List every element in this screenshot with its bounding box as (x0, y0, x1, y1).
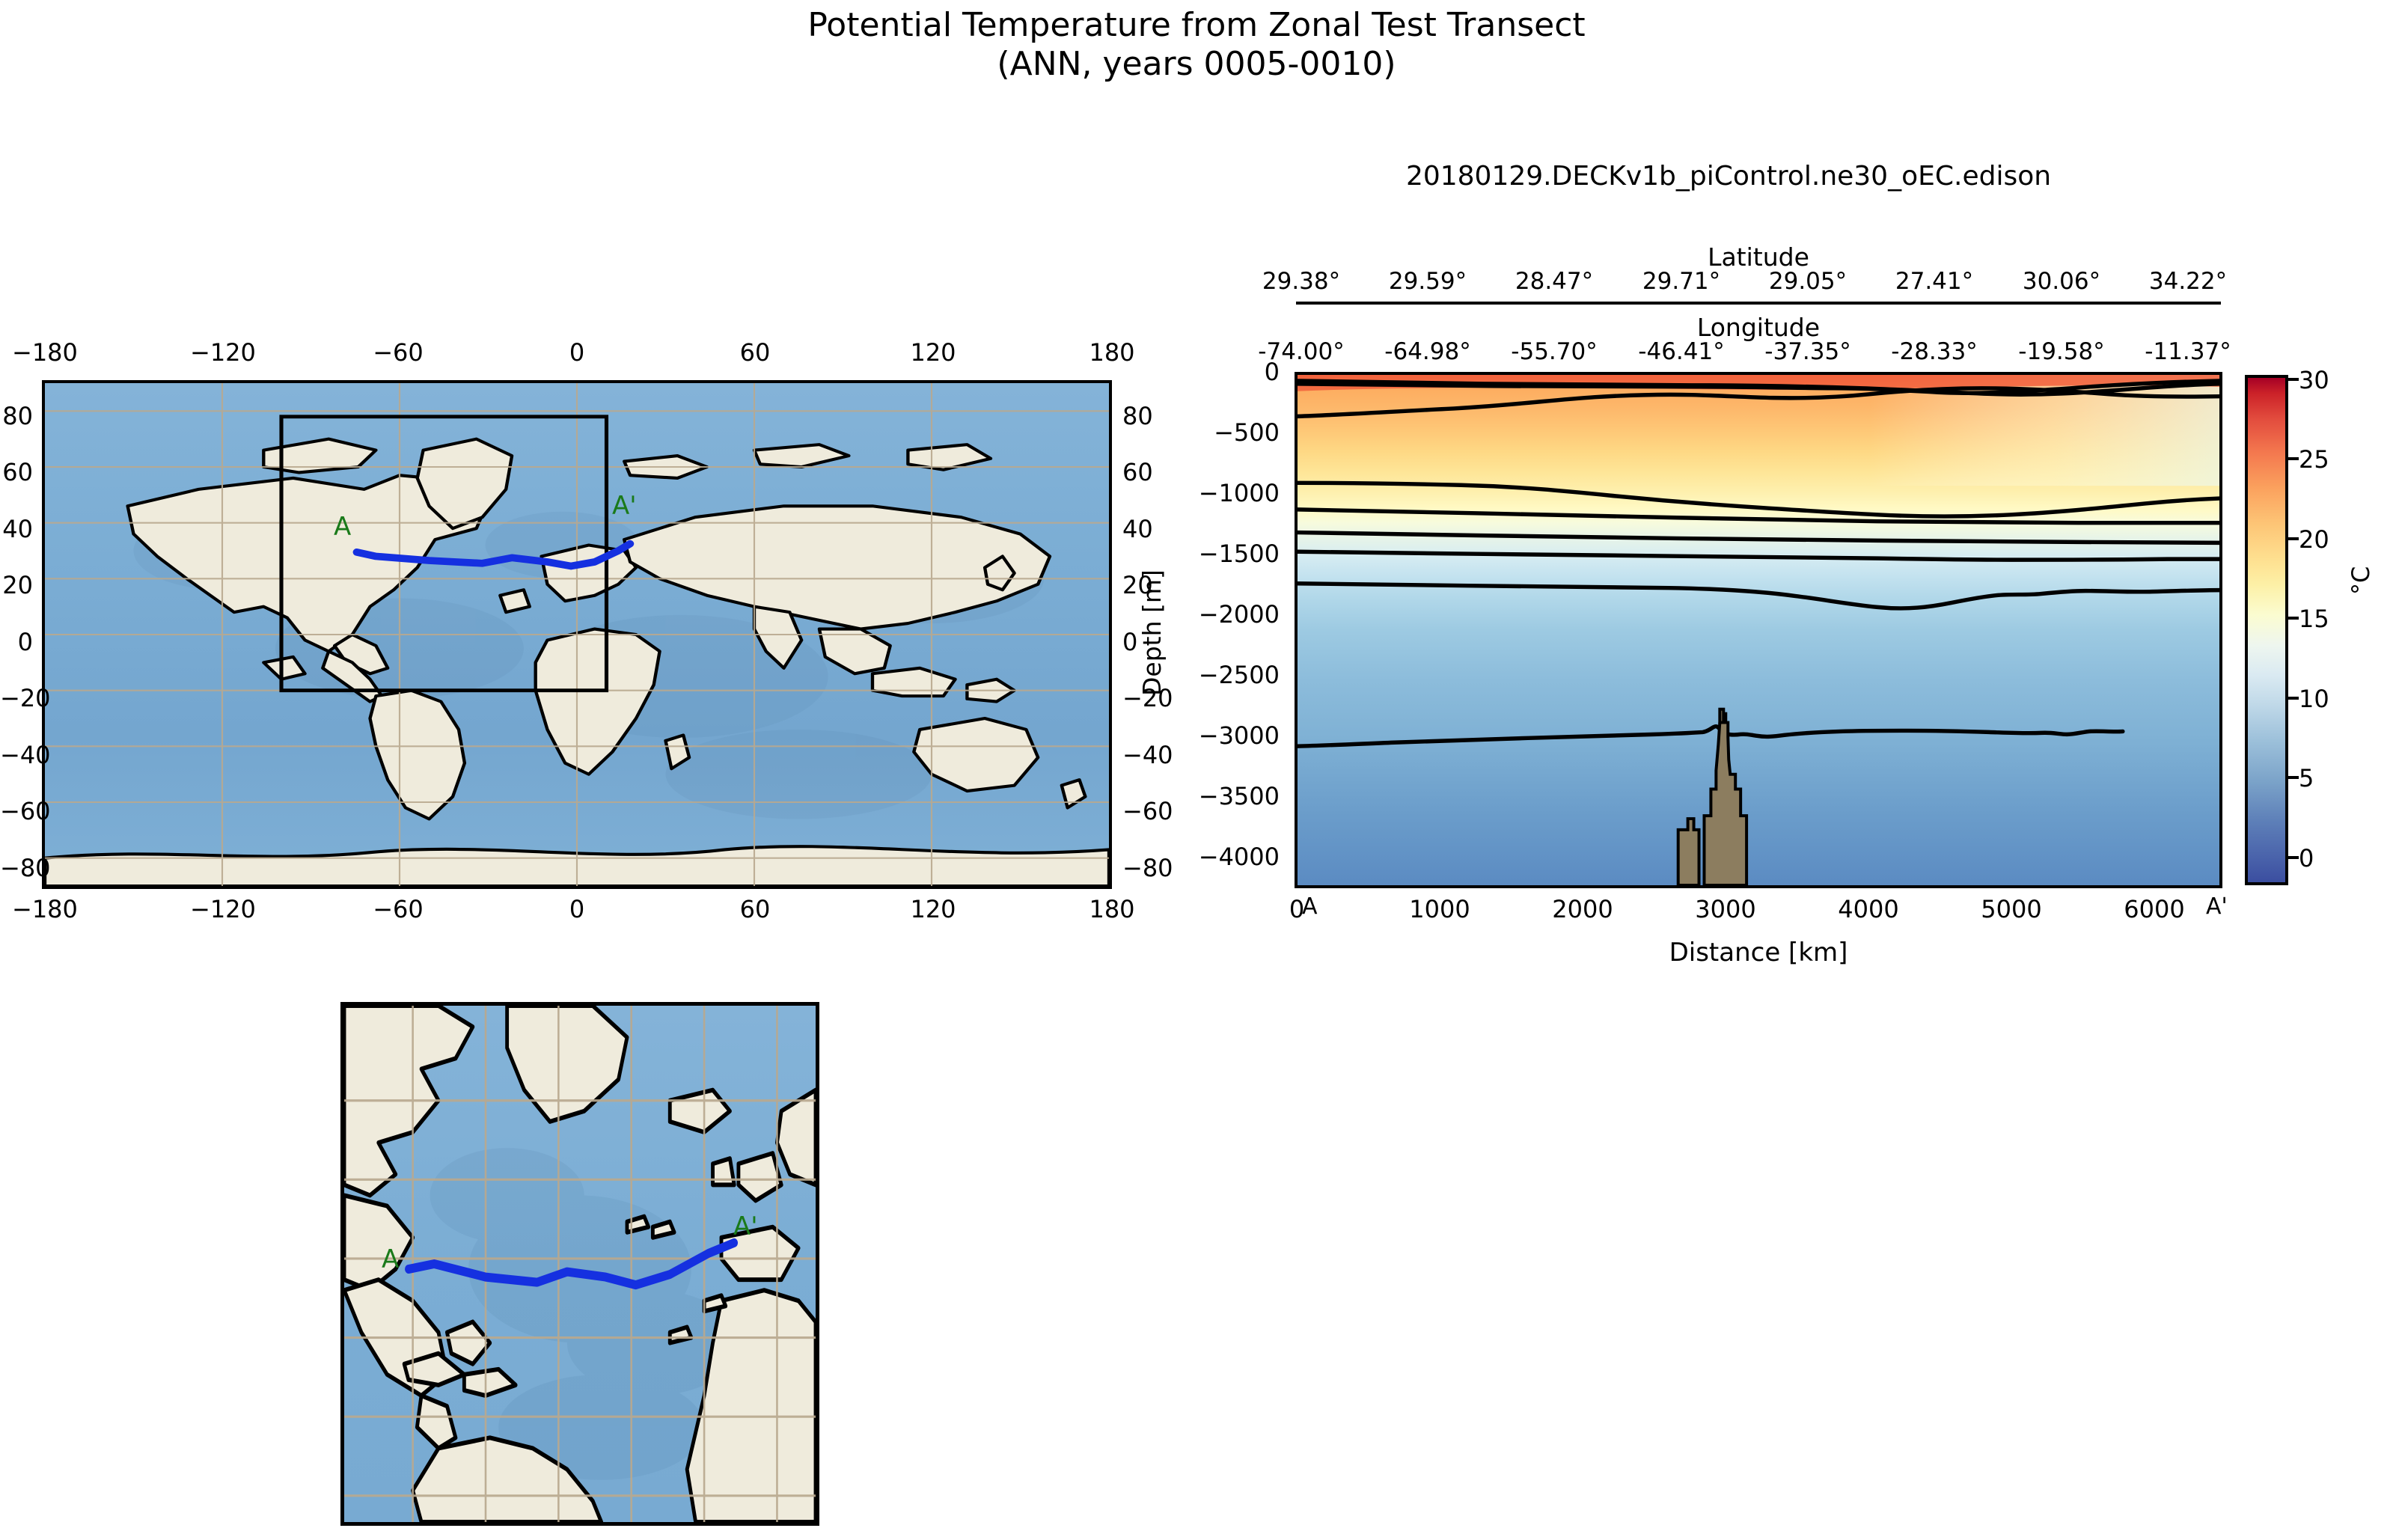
distance-tick-1: 1000 (1391, 895, 1488, 923)
worldmap-lat-tick-left-3: 20 (0, 571, 33, 599)
transect-start-marker: A (1302, 893, 1318, 920)
latitude-tick-7: 34.22° (2124, 268, 2252, 295)
latitude-tick-2: 28.47° (1491, 268, 1618, 295)
depth-tick-7: −3500 (1163, 782, 1280, 810)
depth-tick-2: −1000 (1163, 479, 1280, 507)
worldmap-lat-tick-left-1: 60 (0, 458, 33, 486)
worldmap-lat-tick-right-7: −60 (1122, 797, 1167, 825)
worldmap-lon-tick-bottom-4: 60 (725, 895, 785, 923)
colorbar-tick-1: 5 (2299, 764, 2314, 792)
worldmap-lat-tick-left-0: 80 (0, 402, 33, 430)
worldmap-lat-tick-left-4: 0 (0, 628, 33, 656)
worldmap-lon-tick-top-5: 120 (903, 338, 963, 367)
worldmap-lon-tick-bottom-1: −120 (190, 895, 250, 923)
transect-end-label: A' (612, 491, 637, 521)
worldmap-lat-tick-left-5: −20 (0, 684, 33, 712)
worldmap-lat-tick-right-8: −80 (1122, 854, 1167, 882)
temperature-colorbar-panel (2245, 375, 2288, 885)
latitude-tick-4: 29.05° (1744, 268, 1871, 295)
depth-tick-3: −1500 (1163, 540, 1280, 568)
colorbar-tick-2: 10 (2299, 685, 2329, 713)
depth-tick-5: −2500 (1163, 661, 1280, 689)
world-map-graphic (45, 383, 1109, 886)
north-atlantic-inset-map (340, 1002, 819, 1526)
colorbar-tickmark-3 (2288, 617, 2299, 620)
latitude-tick-1: 29.59° (1364, 268, 1491, 295)
inset-transect-start-label: A (382, 1244, 399, 1274)
colorbar-tickmark-5 (2288, 457, 2299, 460)
latitude-tick-3: 29.71° (1618, 268, 1745, 295)
global-locator-map-panel: A A' (42, 380, 1112, 889)
distance-tick-5: 5000 (1963, 895, 2060, 923)
colorbar-unit-label: °C (2347, 566, 2375, 595)
worldmap-lon-tick-bottom-0: −180 (12, 895, 72, 923)
worldmap-lat-tick-left-6: −40 (0, 741, 33, 769)
worldmap-lon-tick-bottom-2: −60 (368, 895, 428, 923)
distance-tick-3: 3000 (1677, 895, 1774, 923)
transect-end-marker: A' (2206, 893, 2228, 920)
figure-title-line2: (ANN, years 0005-0010) (0, 45, 2393, 84)
potential-temperature-cross-section (1295, 372, 2222, 888)
figure-title-line1: Potential Temperature from Zonal Test Tr… (807, 6, 1585, 44)
temperature-colorbar-gradient (2245, 375, 2288, 885)
worldmap-lon-tick-top-0: −180 (12, 338, 72, 367)
latitude-tick-6: 30.06° (1998, 268, 2125, 295)
global-locator-map (42, 380, 1112, 889)
distance-tick-0: 0 (1263, 895, 1330, 923)
latitude-tick-0: 29.38° (1238, 268, 1365, 295)
worldmap-lon-tick-bottom-3: 0 (547, 895, 607, 923)
cross-section-panel (1295, 372, 2222, 888)
colorbar-tick-3: 15 (2299, 605, 2329, 633)
distance-tick-2: 2000 (1534, 895, 1631, 923)
longitude-tick-5: -28.33° (1871, 338, 1998, 365)
depth-tick-4: −2000 (1163, 600, 1280, 629)
distance-tick-4: 4000 (1820, 895, 1917, 923)
worldmap-lon-tick-top-3: 0 (547, 338, 607, 367)
worldmap-lat-tick-left-7: −60 (0, 797, 33, 825)
secondary-axis-rule (1296, 302, 2221, 305)
depth-tick-1: −500 (1163, 418, 1280, 447)
colorbar-tickmark-6 (2288, 378, 2299, 381)
longitude-tick-3: -46.41° (1618, 338, 1745, 365)
colorbar-tick-5: 25 (2299, 445, 2329, 474)
worldmap-lon-tick-bottom-6: 180 (1082, 895, 1142, 923)
longitude-tick-7: -11.37° (2124, 338, 2252, 365)
colorbar-tickmark-4 (2288, 537, 2299, 540)
longitude-tick-1: -64.98° (1364, 338, 1491, 365)
latitude-tick-5: 27.41° (1871, 268, 1998, 295)
worldmap-lat-tick-left-8: −80 (0, 854, 33, 882)
depth-tick-6: −3000 (1163, 721, 1280, 750)
depth-axis-title: Depth [m] (1137, 569, 1167, 696)
inset-transect-end-label: A' (733, 1211, 758, 1241)
worldmap-lon-tick-top-1: −120 (190, 338, 250, 367)
inset-map-graphic (344, 1006, 816, 1522)
colorbar-tickmark-1 (2288, 776, 2299, 779)
transect-start-label: A (334, 512, 351, 542)
colorbar-tick-4: 20 (2299, 525, 2329, 554)
longitude-tick-4: -37.35° (1744, 338, 1871, 365)
longitude-tick-2: -55.70° (1491, 338, 1618, 365)
depth-tick-8: −4000 (1163, 843, 1280, 871)
run-name-label: 20180129.DECKv1b_piControl.ne30_oEC.edis… (1167, 161, 2290, 192)
colorbar-tick-0: 0 (2299, 844, 2314, 873)
colorbar-tickmark-2 (2288, 697, 2299, 700)
longitude-tick-6: -19.58° (1998, 338, 2125, 365)
worldmap-lat-tick-right-2: 40 (1122, 515, 1167, 543)
worldmap-lat-tick-right-1: 60 (1122, 458, 1167, 486)
distance-tick-6: 6000 (2106, 895, 2203, 923)
worldmap-lat-tick-right-0: 80 (1122, 402, 1167, 430)
figure-title: Potential Temperature from Zonal Test Tr… (0, 6, 2393, 84)
worldmap-lon-tick-top-2: −60 (368, 338, 428, 367)
worldmap-lat-tick-left-2: 40 (0, 515, 33, 543)
distance-axis-title: Distance [km] (1295, 938, 2222, 968)
worldmap-lat-tick-right-6: −40 (1122, 741, 1167, 769)
north-atlantic-inset-panel: A A' (340, 1002, 819, 1526)
worldmap-lon-tick-top-6: 180 (1082, 338, 1142, 367)
colorbar-tick-6: 30 (2299, 366, 2329, 394)
cross-section-graphic (1298, 375, 2219, 885)
worldmap-lon-tick-top-4: 60 (725, 338, 785, 367)
worldmap-lon-tick-bottom-5: 120 (903, 895, 963, 923)
depth-tick-0: 0 (1182, 358, 1280, 386)
colorbar-tickmark-0 (2288, 856, 2299, 859)
